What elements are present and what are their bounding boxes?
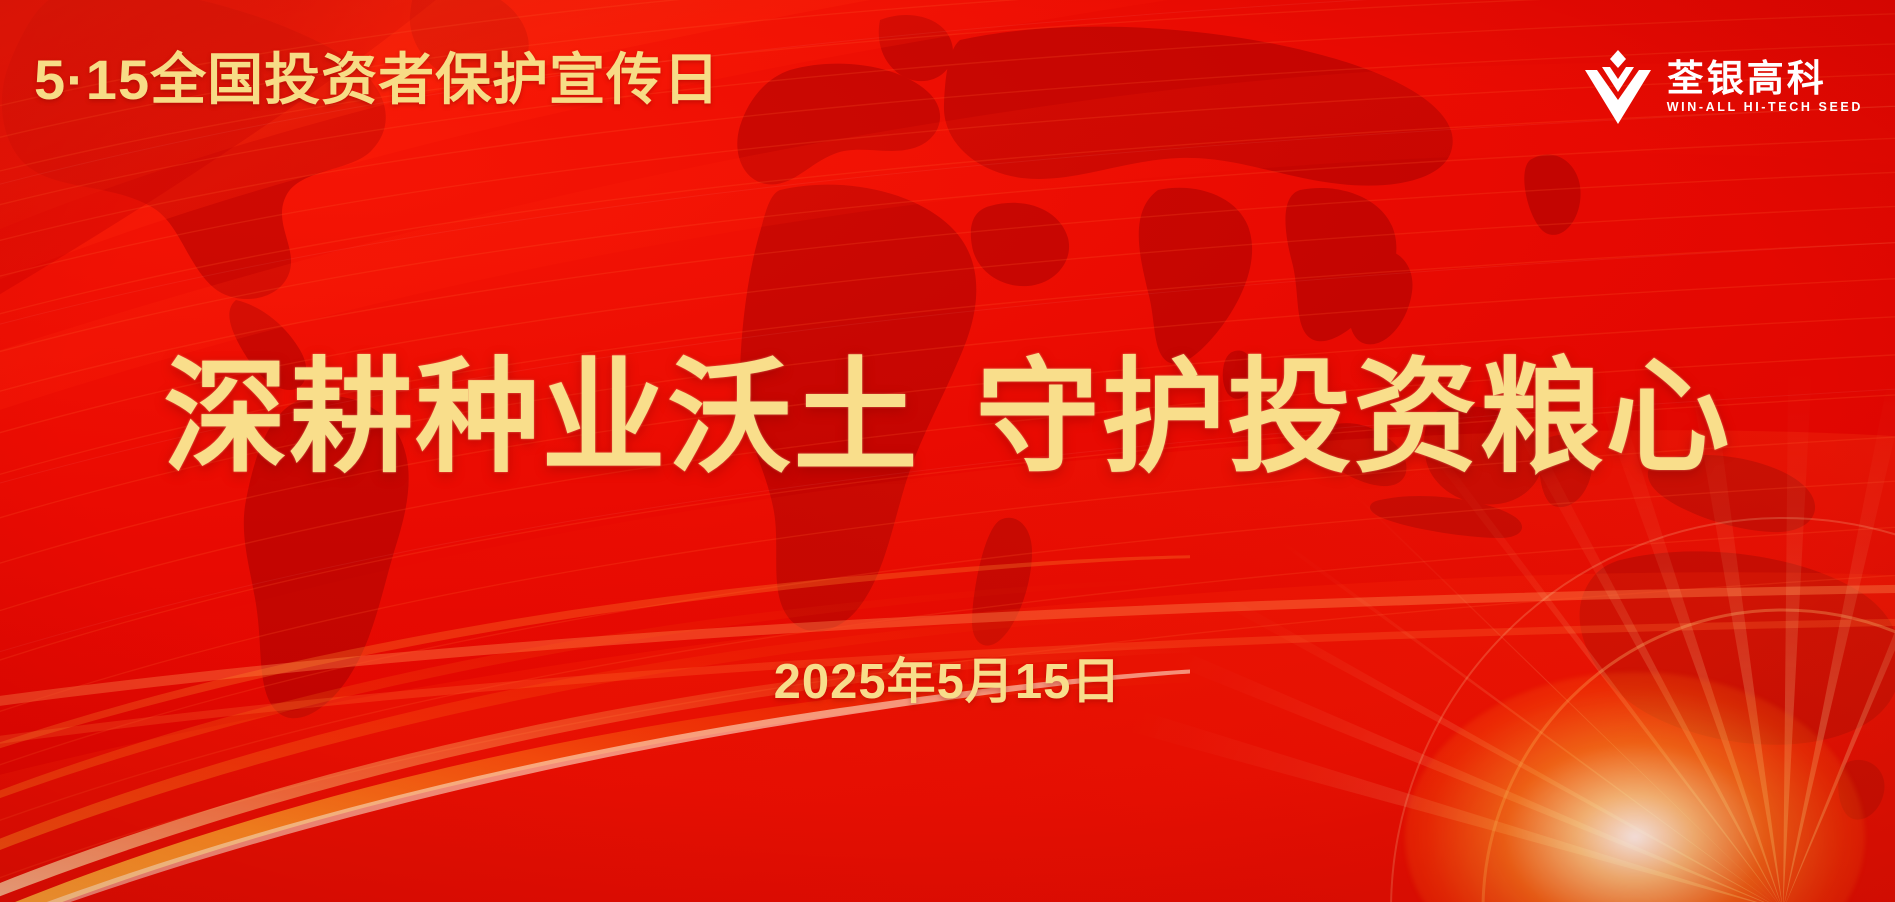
slogan-part-2: 守护投资粮心 [976, 349, 1732, 487]
logo-name-en: WIN-ALL HI-TECH SEED [1667, 101, 1863, 114]
logo-wordmark: 荃银高科 WIN-ALL HI-TECH SEED [1667, 60, 1863, 114]
eyebrow-headline: 5·15全国投资者保护宣传日 [34, 52, 720, 108]
company-logo: 荃银高科 WIN-ALL HI-TECH SEED [1585, 50, 1863, 124]
event-date: 2025年5月15日 [0, 658, 1895, 707]
logo-name-cn: 荃银高科 [1667, 60, 1863, 97]
banner-content: 5·15全国投资者保护宣传日 荃银高科 WIN-ALL HI-TECH SEE [0, 0, 1895, 902]
main-slogan: 深耕种业沃土守护投资粮心 [0, 352, 1895, 486]
chevron-diamond-logo-icon [1585, 50, 1651, 124]
investor-protection-day-banner: 5·15全国投资者保护宣传日 荃银高科 WIN-ALL HI-TECH SEE [0, 0, 1895, 902]
slogan-part-1: 深耕种业沃土 [163, 349, 919, 487]
